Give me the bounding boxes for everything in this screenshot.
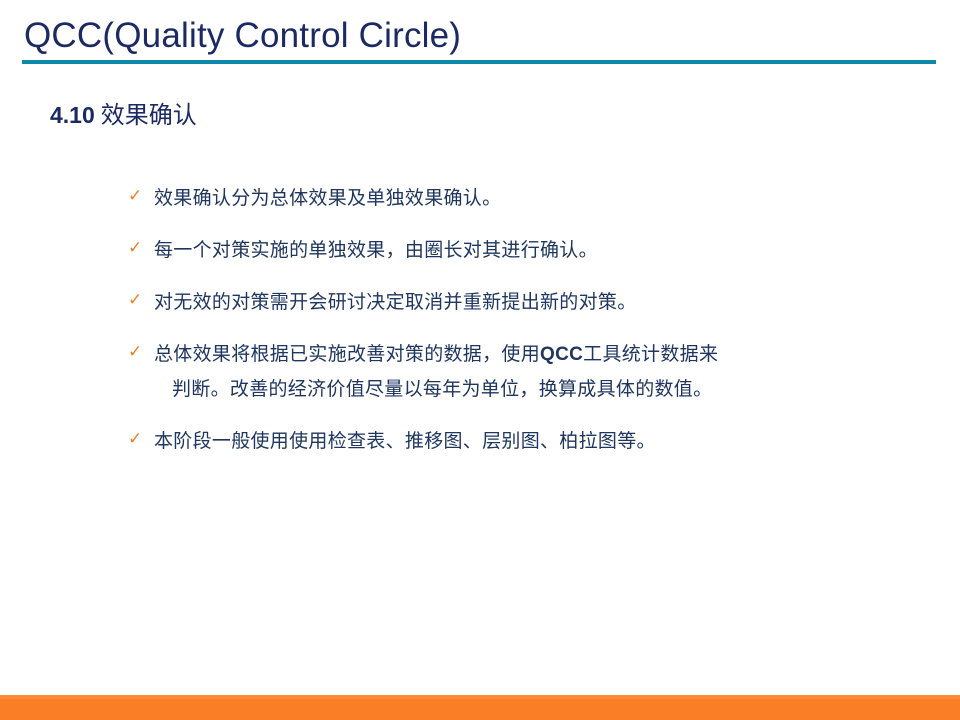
bottom-accent-bar xyxy=(0,695,960,720)
bullet-list: ✓ 效果确认分为总体效果及单独效果确认。 ✓ 每一个对策实施的单独效果，由圈长对… xyxy=(128,181,928,458)
list-item-text: 效果确认分为总体效果及单独效果确认。 xyxy=(154,181,928,215)
list-item: ✓ 对无效的对策需开会研讨决定取消并重新提出新的对策。 xyxy=(128,285,928,319)
title-divider xyxy=(22,60,936,64)
section-label: 效果确认 xyxy=(101,101,197,129)
check-icon: ✓ xyxy=(128,424,154,454)
list-item: ✓ 本阶段一般使用使用检查表、推移图、层别图、柏拉图等。 xyxy=(128,424,928,458)
list-item-text-part1: 总体效果将根据已实施改善对策的数据，使用 xyxy=(154,343,540,365)
list-item-emphasis: QCC xyxy=(540,344,583,365)
check-icon: ✓ xyxy=(128,285,154,315)
check-icon: ✓ xyxy=(128,181,154,211)
list-item-text: 本阶段一般使用使用检查表、推移图、层别图、柏拉图等。 xyxy=(154,424,928,458)
list-item: ✓ 效果确认分为总体效果及单独效果确认。 xyxy=(128,181,928,215)
list-item: ✓ 每一个对策实施的单独效果，由圈长对其进行确认。 xyxy=(128,233,928,267)
check-icon: ✓ xyxy=(128,337,154,367)
list-item-text: 对无效的对策需开会研讨决定取消并重新提出新的对策。 xyxy=(154,285,928,319)
slide: QCC(Quality Control Circle) 4.10效果确认 ✓ 效… xyxy=(0,0,960,720)
section-heading: 4.10效果确认 xyxy=(50,99,197,135)
check-icon: ✓ xyxy=(128,233,154,263)
section-number: 4.10 xyxy=(50,102,95,128)
list-item: ✓ 总体效果将根据已实施改善对策的数据，使用QCC工具统计数据来判断。改善的经济… xyxy=(128,337,928,406)
list-item-text: 每一个对策实施的单独效果，由圈长对其进行确认。 xyxy=(154,233,928,267)
page-title: QCC(Quality Control Circle) xyxy=(24,14,936,58)
list-item-text: 总体效果将根据已实施改善对策的数据，使用QCC工具统计数据来判断。改善的经济价值… xyxy=(154,337,928,406)
bottom-accent-bar-highlight xyxy=(0,695,960,699)
list-item-text-part2: 工具统计数据来 xyxy=(583,343,718,365)
list-item-text-line2: 判断。改善的经济价值尽量以每年为单位，换算成具体的数值。 xyxy=(172,372,928,406)
